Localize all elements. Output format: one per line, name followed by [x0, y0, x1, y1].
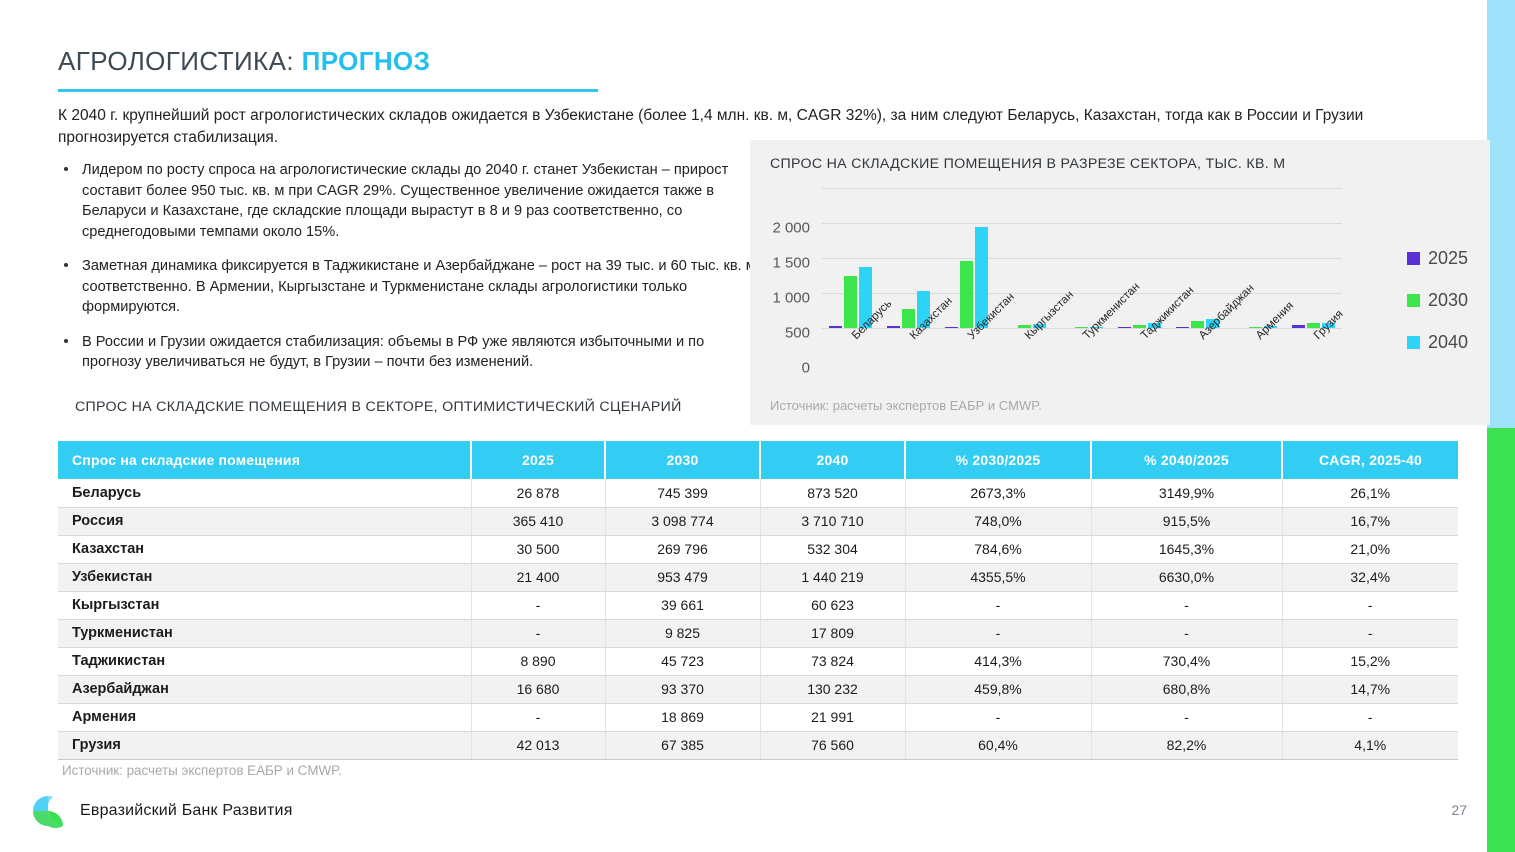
table-header-cell: CAGR, 2025-40	[1282, 441, 1458, 479]
brand-name: Евразийский Банк Развития	[80, 802, 293, 820]
page-title: АГРОЛОГИСТИКА: ПРОГНОЗ	[58, 46, 603, 77]
table-cell: 30 500	[471, 535, 605, 563]
legend-swatch-icon	[1407, 294, 1420, 307]
list-item: Лидером по росту спроса на агрологистиче…	[58, 160, 758, 242]
bar-group	[1060, 188, 1103, 328]
table-row-label: Кыргызстан	[58, 591, 471, 619]
table-cell: 15,2%	[1282, 647, 1458, 675]
table-body: Беларусь26 878745 399873 5202673,3%3149,…	[58, 479, 1458, 759]
table-cell: -	[1282, 619, 1458, 647]
table-cell: 3 098 774	[605, 507, 760, 535]
bar-group	[887, 188, 930, 328]
table-row: Азербайджан16 68093 370130 232459,8%680,…	[58, 675, 1458, 703]
table-row-label: Беларусь	[58, 479, 471, 507]
table-cell: 915,5%	[1091, 507, 1282, 535]
bar-2030	[844, 276, 857, 328]
y-tick-label: 0	[802, 360, 810, 377]
legend-label: 2040	[1428, 332, 1468, 353]
table-row: Армения-18 86921 991---	[58, 703, 1458, 731]
brand-block: Евразийский Банк Развития	[30, 793, 293, 829]
table-cell: -	[471, 703, 605, 731]
bar-2025	[1176, 327, 1189, 329]
table-row-label: Грузия	[58, 731, 471, 759]
table-header-row: Спрос на складские помещения202520302040…	[58, 441, 1458, 479]
table-row: Туркменистан-9 82517 809---	[58, 619, 1458, 647]
table-cell: 42 013	[471, 731, 605, 759]
chart-source-note: Источник: расчеты экспертов ЕАБР и CMWP.	[770, 398, 1042, 413]
table-cell: 748,0%	[905, 507, 1091, 535]
bullet-list: Лидером по росту спроса на агрологистиче…	[58, 160, 758, 387]
table-cell: 26 878	[471, 479, 605, 507]
bullet-dot-icon	[64, 167, 68, 171]
table-cell: -	[1282, 591, 1458, 619]
demand-table-wrapper: Спрос на складские помещения202520302040…	[58, 441, 1458, 760]
table-cell: 18 869	[605, 703, 760, 731]
table-cell: 680,8%	[1091, 675, 1282, 703]
legend-label: 2025	[1428, 248, 1468, 269]
table-row-label: Россия	[58, 507, 471, 535]
table-cell: 93 370	[605, 675, 760, 703]
table-cell: 4,1%	[1282, 731, 1458, 759]
table-cell: 1645,3%	[1091, 535, 1282, 563]
table-row-label: Казахстан	[58, 535, 471, 563]
table-cell: 414,3%	[905, 647, 1091, 675]
legend-item-2040: 2040	[1407, 332, 1468, 353]
table-cell: 21 400	[471, 563, 605, 591]
bar-group	[1176, 188, 1219, 328]
bar-2025	[945, 327, 958, 329]
legend-swatch-icon	[1407, 336, 1420, 349]
table-cell: -	[1091, 591, 1282, 619]
bar-group	[829, 188, 872, 328]
table-header-cell: 2025	[471, 441, 605, 479]
table-row-label: Азербайджан	[58, 675, 471, 703]
table-cell: 953 479	[605, 563, 760, 591]
legend-item-2025: 2025	[1407, 248, 1468, 269]
y-tick-label: 1 500	[772, 255, 810, 272]
bar-2025	[1292, 325, 1305, 328]
table-cell: -	[471, 619, 605, 647]
table-caption: СПРОС НА СКЛАДСКИЕ ПОМЕЩЕНИЯ В СЕКТОРЕ, …	[75, 399, 682, 415]
bar-group	[1292, 188, 1335, 328]
legend-item-2030: 2030	[1407, 290, 1468, 311]
legend-label: 2030	[1428, 290, 1468, 311]
bullet-dot-icon	[64, 263, 68, 267]
page-title-main: АГРОЛОГИСТИКА:	[58, 46, 294, 76]
bullet-text: В России и Грузии ожидается стабилизация…	[82, 334, 704, 371]
table-row: Таджикистан8 89045 72373 824414,3%730,4%…	[58, 647, 1458, 675]
source-note: Источник: расчеты экспертов ЕАБР и CMWP.	[62, 763, 342, 778]
table-cell: -	[905, 619, 1091, 647]
bar-2025	[887, 326, 900, 328]
bullet-dot-icon	[64, 339, 68, 343]
chart-bars	[822, 188, 1342, 328]
table-cell: 1 440 219	[760, 563, 905, 591]
table-cell: 8 890	[471, 647, 605, 675]
table-header-cell: % 2040/2025	[1091, 441, 1282, 479]
table-cell: 21 991	[760, 703, 905, 731]
chart-legend: 202520302040	[1407, 248, 1468, 353]
y-tick-label: 1 000	[772, 290, 810, 307]
table-cell: 14,7%	[1282, 675, 1458, 703]
page-title-accent: ПРОГНОЗ	[302, 46, 431, 76]
list-item: Заметная динамика фиксируется в Таджикис…	[58, 256, 758, 318]
table-cell: 17 809	[760, 619, 905, 647]
slide-header: АГРОЛОГИСТИКА: ПРОГНОЗ	[58, 46, 603, 92]
table-row: Грузия42 01367 38576 56060,4%82,2%4,1%	[58, 731, 1458, 759]
bar-2030	[960, 261, 973, 328]
table-cell: 3149,9%	[1091, 479, 1282, 507]
eabr-logo-icon	[30, 793, 66, 829]
chart-plot-area	[822, 188, 1342, 328]
chart-title: СПРОС НА СКЛАДСКИЕ ПОМЕЩЕНИЯ В РАЗРЕЗЕ С…	[770, 156, 1285, 172]
table-cell: 9 825	[605, 619, 760, 647]
bullet-text: Лидером по росту спроса на агрологистиче…	[82, 162, 728, 240]
table-cell: 4355,5%	[905, 563, 1091, 591]
edge-strip-blue	[1487, 0, 1515, 428]
table-row: Казахстан30 500269 796532 304784,6%1645,…	[58, 535, 1458, 563]
table-cell: 365 410	[471, 507, 605, 535]
table-cell: 873 520	[760, 479, 905, 507]
table-row: Россия365 4103 098 7743 710 710748,0%915…	[58, 507, 1458, 535]
chart-y-axis: 05001 0001 5002 000	[750, 184, 816, 332]
table-cell: 45 723	[605, 647, 760, 675]
bar-2025	[829, 326, 842, 328]
bar-2025	[1118, 327, 1131, 329]
table-cell: -	[1091, 619, 1282, 647]
table-cell: 745 399	[605, 479, 760, 507]
table-header-cell: % 2030/2025	[905, 441, 1091, 479]
table-cell: 3 710 710	[760, 507, 905, 535]
table-header-cell: Спрос на складские помещения	[58, 441, 471, 479]
table-row: Кыргызстан-39 66160 623---	[58, 591, 1458, 619]
table-cell: -	[1282, 703, 1458, 731]
y-tick-label: 500	[785, 325, 810, 342]
list-item: В России и Грузии ожидается стабилизация…	[58, 332, 758, 373]
table-cell: 730,4%	[1091, 647, 1282, 675]
table-cell: -	[905, 591, 1091, 619]
table-row: Беларусь26 878745 399873 5202673,3%3149,…	[58, 479, 1458, 507]
legend-swatch-icon	[1407, 252, 1420, 265]
table-cell: 82,2%	[1091, 731, 1282, 759]
chart-panel: СПРОС НА СКЛАДСКИЕ ПОМЕЩЕНИЯ В РАЗРЕЗЕ С…	[750, 140, 1490, 425]
table-row-label: Армения	[58, 703, 471, 731]
table-cell: 21,0%	[1282, 535, 1458, 563]
table-cell: 16 680	[471, 675, 605, 703]
table-row: Узбекистан21 400953 4791 440 2194355,5%6…	[58, 563, 1458, 591]
table-header-cell: 2040	[760, 441, 905, 479]
table-cell: -	[1091, 703, 1282, 731]
table-cell: 60,4%	[905, 731, 1091, 759]
table-cell: 32,4%	[1282, 563, 1458, 591]
bullet-text: Заметная динамика фиксируется в Таджикис…	[82, 258, 756, 315]
table-row-label: Туркменистан	[58, 619, 471, 647]
edge-strip-green	[1487, 428, 1515, 852]
table-cell: 39 661	[605, 591, 760, 619]
table-cell: 784,6%	[905, 535, 1091, 563]
table-cell: 16,7%	[1282, 507, 1458, 535]
table-cell: 67 385	[605, 731, 760, 759]
y-tick-label: 2 000	[772, 220, 810, 237]
table-cell: 26,1%	[1282, 479, 1458, 507]
page-number: 27	[1451, 802, 1467, 818]
table-cell: 532 304	[760, 535, 905, 563]
table-cell: 6630,0%	[1091, 563, 1282, 591]
table-cell: -	[471, 591, 605, 619]
table-header-cell: 2030	[605, 441, 760, 479]
table-cell: -	[905, 703, 1091, 731]
demand-table: Спрос на складские помещения202520302040…	[58, 441, 1458, 760]
table-row-label: Таджикистан	[58, 647, 471, 675]
bar-group	[1118, 188, 1161, 328]
title-underline	[58, 89, 598, 92]
table-cell: 76 560	[760, 731, 905, 759]
table-cell: 73 824	[760, 647, 905, 675]
table-cell: 60 623	[760, 591, 905, 619]
table-cell: 2673,3%	[905, 479, 1091, 507]
table-cell: 269 796	[605, 535, 760, 563]
table-cell: 130 232	[760, 675, 905, 703]
table-row-label: Узбекистан	[58, 563, 471, 591]
table-cell: 459,8%	[905, 675, 1091, 703]
